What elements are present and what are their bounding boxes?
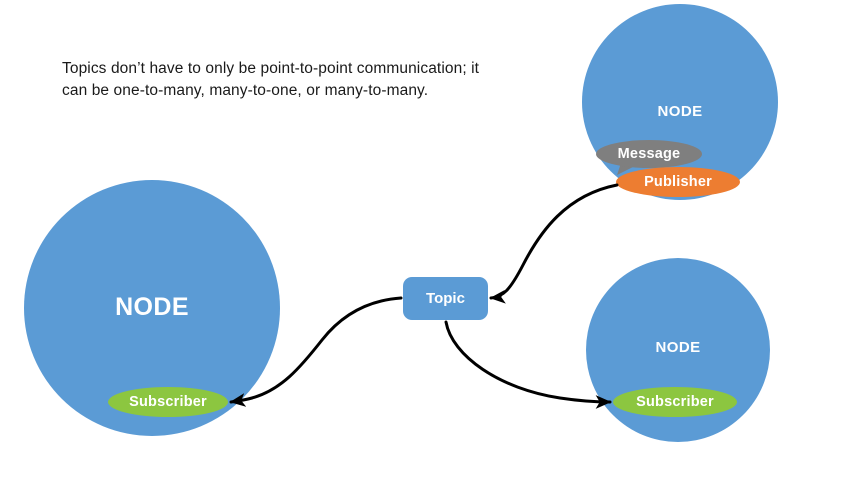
node-label-bottom-right: NODE xyxy=(618,339,738,356)
message-label: Message xyxy=(596,146,702,162)
diagram-canvas: Topics don’t have to only be point-to-po… xyxy=(0,0,854,480)
node-label-top-right: NODE xyxy=(620,103,740,120)
topic-label: Topic xyxy=(403,290,488,307)
caption-text: Topics don’t have to only be point-to-po… xyxy=(62,58,482,103)
connector-topic-to-subscriber-right xyxy=(446,322,610,402)
subscriber-label-left: Subscriber xyxy=(108,394,228,410)
publisher-label: Publisher xyxy=(616,174,740,190)
node-label-left: NODE xyxy=(52,293,252,322)
connector-publisher-to-topic xyxy=(491,185,617,298)
subscriber-label-right: Subscriber xyxy=(613,394,737,410)
